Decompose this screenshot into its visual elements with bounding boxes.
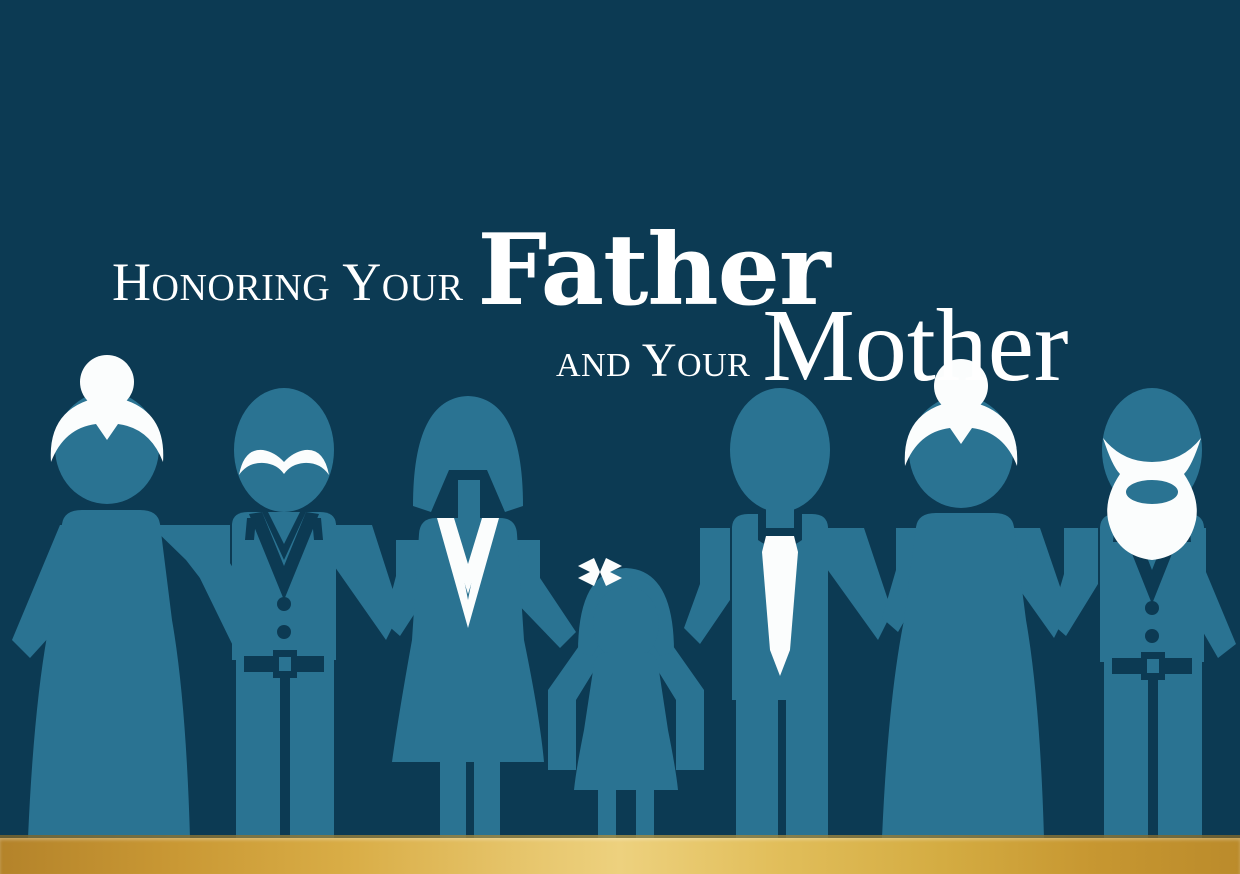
figure-grandmother-right xyxy=(882,359,1068,838)
family-illustration: .fig { fill: #2a7392; } .wht { fill: #fb… xyxy=(0,0,1240,874)
figure-daughter xyxy=(548,558,704,838)
figure-father xyxy=(684,388,892,838)
gold-bar-highlight xyxy=(0,835,1240,838)
gold-accent-bar xyxy=(0,838,1240,874)
figure-mother xyxy=(384,396,576,838)
figure-grandfather-left xyxy=(196,388,400,838)
slide-canvas: .fig { fill: #2a7392; } .wht { fill: #fb… xyxy=(0,0,1240,874)
figure-grandfather-right xyxy=(1050,388,1236,838)
